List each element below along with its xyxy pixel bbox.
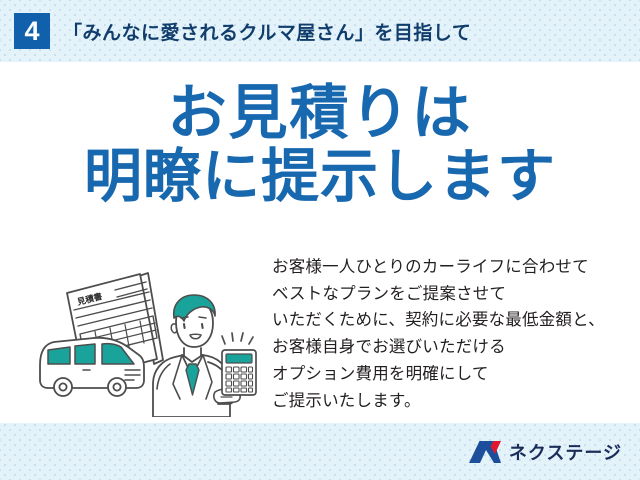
van-illustration [40,338,144,396]
calculator-illustration [222,350,256,395]
header-title: 「みんなに愛されるクルマ屋さん」を目指して [63,18,471,45]
content-panel: お見積りは 明瞭に提示します お客様一人ひとりのカーライフに合わせて ベストなプ… [0,62,640,423]
illustration-salesman-estimate-van: 見積書 [22,252,272,417]
body-copy: お客様一人ひとりのカーライフに合わせて ベストなプランをご提案させて いただくた… [272,254,632,414]
body-copy-line: お客様自身でお選びいただける [272,334,632,361]
body-copy-line: ベストなプランをご提案させて [272,281,632,308]
brand-name: ネクステージ [509,439,622,465]
body-copy-line: いただくために、契約に必要な最低金額と、 [272,307,632,334]
headline-line-1: お見積りは [0,82,640,146]
footer-bar: ネクステージ [0,423,640,480]
header-bar: 4 「みんなに愛されるクルマ屋さん」を目指して [0,0,640,62]
body-copy-line: ご提示いたします。 [272,388,632,415]
body-copy-line: お客様一人ひとりのカーライフに合わせて [272,254,632,281]
slide-canvas: 4 「みんなに愛されるクルマ屋さん」を目指して お見積りは 明瞭に提示します お… [0,0,640,480]
body-copy-line: オプション費用を明確にして [272,361,632,388]
sparkle-lines [222,333,253,344]
illustration-svg: 見積書 [22,252,272,417]
headline-line-2: 明瞭に提示します [0,146,640,209]
headline-block: お見積りは 明瞭に提示します [0,82,640,208]
nextage-n-logo-icon [468,440,502,464]
brand-lockup: ネクステージ [468,439,622,465]
step-number-badge: 4 [14,13,50,49]
